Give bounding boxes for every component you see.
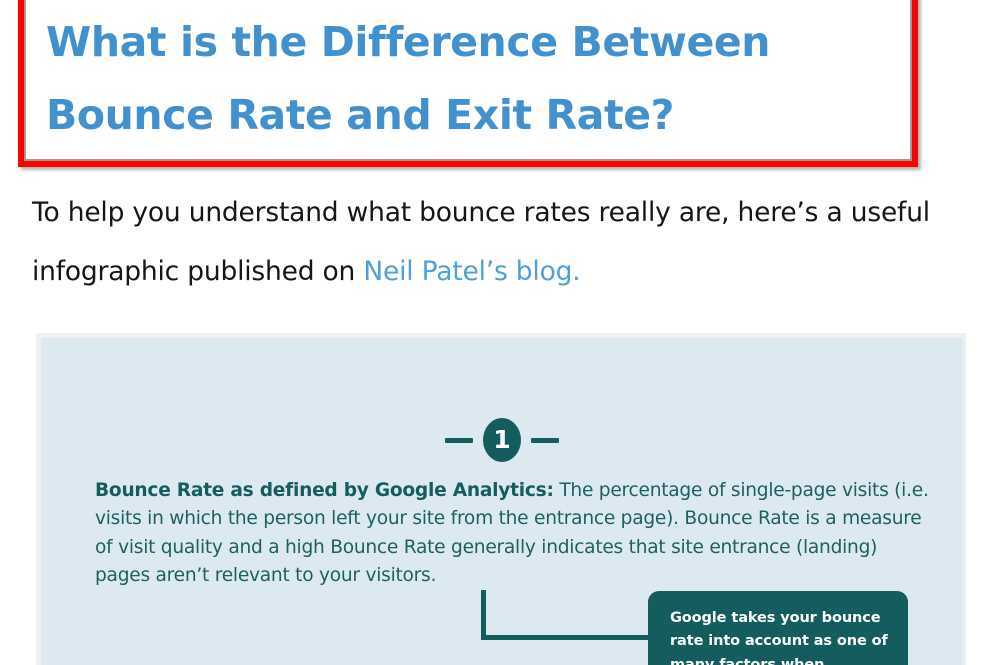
heading-highlight-box: What is the Difference Between Bounce Ra… — [18, 0, 918, 167]
step-number-badge: 1 — [483, 418, 521, 462]
badge-dash-left — [445, 438, 473, 443]
step-number-badge-row: 1 — [41, 415, 963, 465]
connector-horizontal-segment — [481, 635, 661, 640]
heading-box-inner-border: What is the Difference Between Bounce Ra… — [24, 0, 912, 161]
infographic-image[interactable]: WHAT IS BOUNCE RATE? 1 Bounce Rate as de… — [36, 333, 966, 665]
definition-lead-in: Bounce Rate as defined by Google Analyti… — [95, 480, 554, 501]
page-title: What is the Difference Between Bounce Ra… — [46, 6, 876, 152]
google-ranking-callout: Google takes your bounce rate into accou… — [648, 591, 908, 665]
badge-dash-right — [531, 438, 559, 443]
bounce-rate-definition: Bounce Rate as defined by Google Analyti… — [95, 477, 937, 590]
infographic-canvas: WHAT IS BOUNCE RATE? 1 Bounce Rate as de… — [41, 338, 963, 665]
neil-patel-blog-link[interactable]: Neil Patel’s blog. — [363, 256, 580, 287]
callout-text: Google takes your bounce rate into accou… — [670, 607, 890, 665]
connector-vertical-segment — [481, 590, 486, 638]
intro-paragraph: To help you understand what bounce rates… — [32, 184, 972, 302]
callout-connector-line — [481, 590, 661, 640]
